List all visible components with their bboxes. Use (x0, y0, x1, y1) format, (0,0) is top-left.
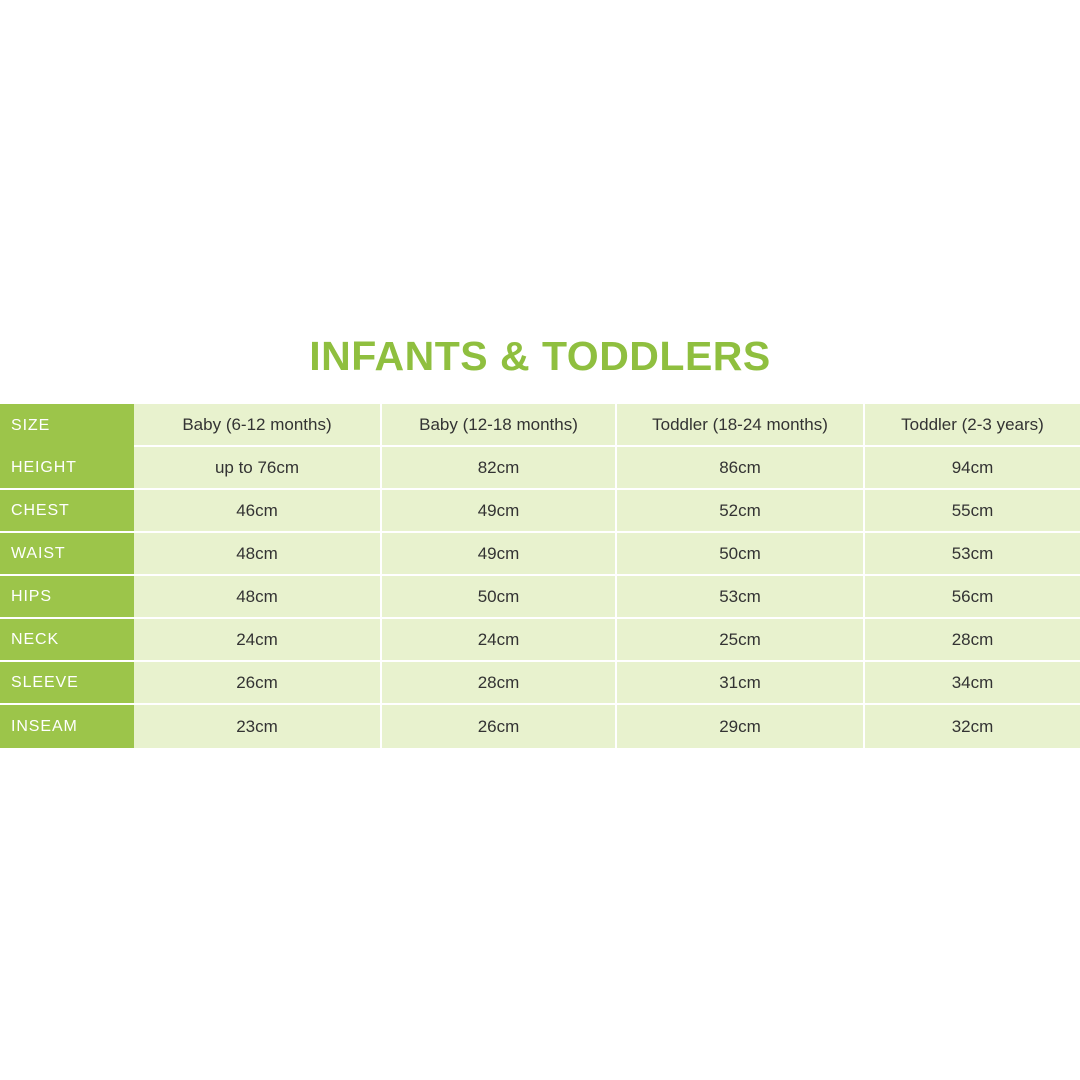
cell-sleeve-baby-6-12: 26cm (134, 662, 380, 705)
table-row: CHEST 46cm 49cm 52cm 55cm (0, 490, 1080, 533)
cell-waist-toddler-18-24: 50cm (615, 533, 863, 576)
row-label-neck: NECK (0, 619, 134, 662)
table-row: WAIST 48cm 49cm 50cm 53cm (0, 533, 1080, 576)
row-label-waist: WAIST (0, 533, 134, 576)
table-body: HEIGHT up to 76cm 82cm 86cm 94cm CHEST 4… (0, 447, 1080, 748)
cell-waist-toddler-2-3: 53cm (863, 533, 1080, 576)
cell-chest-toddler-2-3: 55cm (863, 490, 1080, 533)
table-row: NECK 24cm 24cm 25cm 28cm (0, 619, 1080, 662)
size-chart-table: SIZE Baby (6-12 months) Baby (12-18 mont… (0, 404, 1080, 748)
cell-chest-baby-12-18: 49cm (380, 490, 615, 533)
table-row: INSEAM 23cm 26cm 29cm 32cm (0, 705, 1080, 748)
column-header-toddler-2-3: Toddler (2-3 years) (863, 404, 1080, 447)
row-label-chest: CHEST (0, 490, 134, 533)
cell-hips-baby-6-12: 48cm (134, 576, 380, 619)
size-chart-container: INFANTS & TODDLERS SIZE Baby (6-12 month… (0, 336, 1080, 748)
page-title: INFANTS & TODDLERS (0, 336, 1080, 377)
cell-inseam-toddler-18-24: 29cm (615, 705, 863, 748)
cell-neck-baby-6-12: 24cm (134, 619, 380, 662)
cell-chest-toddler-18-24: 52cm (615, 490, 863, 533)
table-row: SLEEVE 26cm 28cm 31cm 34cm (0, 662, 1080, 705)
cell-height-baby-6-12: up to 76cm (134, 447, 380, 490)
table-header: SIZE Baby (6-12 months) Baby (12-18 mont… (0, 404, 1080, 447)
cell-height-toddler-18-24: 86cm (615, 447, 863, 490)
cell-inseam-toddler-2-3: 32cm (863, 705, 1080, 748)
table-header-row: SIZE Baby (6-12 months) Baby (12-18 mont… (0, 404, 1080, 447)
cell-hips-toddler-18-24: 53cm (615, 576, 863, 619)
cell-waist-baby-12-18: 49cm (380, 533, 615, 576)
cell-inseam-baby-6-12: 23cm (134, 705, 380, 748)
column-header-toddler-18-24: Toddler (18-24 months) (615, 404, 863, 447)
cell-neck-baby-12-18: 24cm (380, 619, 615, 662)
column-header-size: SIZE (0, 404, 134, 447)
cell-sleeve-toddler-2-3: 34cm (863, 662, 1080, 705)
cell-sleeve-baby-12-18: 28cm (380, 662, 615, 705)
cell-hips-baby-12-18: 50cm (380, 576, 615, 619)
size-chart-page: INFANTS & TODDLERS SIZE Baby (6-12 month… (0, 0, 1080, 1080)
table-row: HEIGHT up to 76cm 82cm 86cm 94cm (0, 447, 1080, 490)
cell-neck-toddler-2-3: 28cm (863, 619, 1080, 662)
cell-height-baby-12-18: 82cm (380, 447, 615, 490)
cell-height-toddler-2-3: 94cm (863, 447, 1080, 490)
column-header-baby-6-12: Baby (6-12 months) (134, 404, 380, 447)
cell-sleeve-toddler-18-24: 31cm (615, 662, 863, 705)
cell-waist-baby-6-12: 48cm (134, 533, 380, 576)
cell-neck-toddler-18-24: 25cm (615, 619, 863, 662)
table-row: HIPS 48cm 50cm 53cm 56cm (0, 576, 1080, 619)
row-label-height: HEIGHT (0, 447, 134, 490)
row-label-inseam: INSEAM (0, 705, 134, 748)
column-header-baby-12-18: Baby (12-18 months) (380, 404, 615, 447)
cell-hips-toddler-2-3: 56cm (863, 576, 1080, 619)
row-label-sleeve: SLEEVE (0, 662, 134, 705)
row-label-hips: HIPS (0, 576, 134, 619)
cell-chest-baby-6-12: 46cm (134, 490, 380, 533)
cell-inseam-baby-12-18: 26cm (380, 705, 615, 748)
